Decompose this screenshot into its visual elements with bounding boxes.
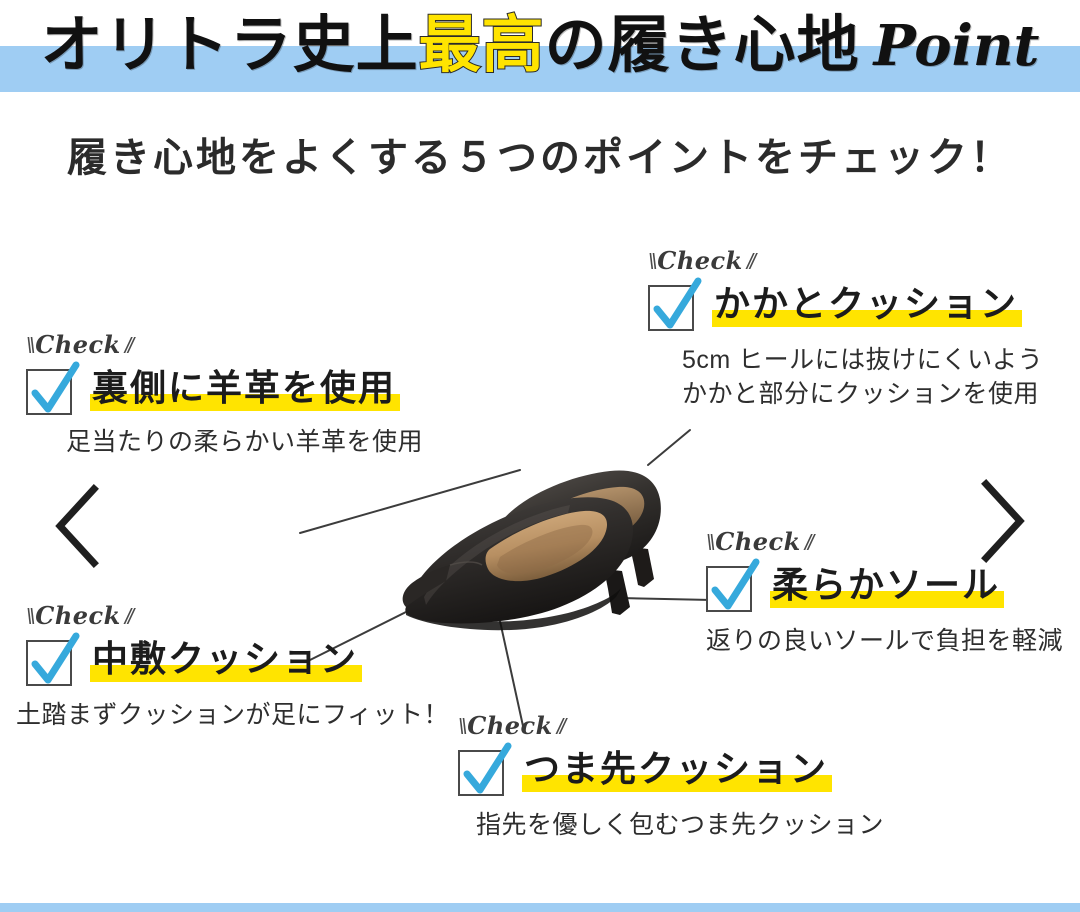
point-head-row: 裏側に羊革を使用 [26,363,423,413]
title-part-point: Point [860,12,1040,80]
point-heel-cushion: \\Check// かかとクッション 5cm ヒールには抜けにくいよう かかと部… [648,248,1043,411]
check-label: Check [35,601,121,630]
checkbox-checked[interactable] [648,279,698,329]
slash-right: // [125,333,131,358]
check-tag: \\Check// [26,332,423,359]
checkbox-checked[interactable] [458,744,508,794]
slash-right: // [557,714,563,739]
slash-right: // [805,530,811,555]
title-part-1: オリトラ史上 [41,12,419,80]
point-description: 返りの良いソールで負担を軽減 [706,624,1063,658]
check-label: Check [35,330,121,359]
slash-left: \\ [648,249,654,274]
slash-right: // [125,604,131,629]
check-label: Check [657,246,743,275]
infographic-slide: オリトラ史上 最高 の履き心地 Point 履き心地をよくする５つのポイントをチ… [0,0,1080,912]
point-description: 指先を優しく包むつま先クッション [476,808,884,842]
check-icon [657,281,698,325]
point-description: 足当たりの柔らかい羊革を使用 [66,425,423,459]
point-head-row: つま先クッション [458,744,884,794]
checkbox-checked[interactable] [26,363,76,413]
point-head-row: 柔らかソール [706,560,1063,610]
slash-left: \\ [458,714,464,739]
point-description-line2: かかと部分にクッションを使用 [682,377,1043,411]
page-title: オリトラ史上 最高 の履き心地 Point [0,0,1080,92]
slash-left: \\ [26,604,32,629]
slash-left: \\ [26,333,32,358]
chevron-right-icon [986,484,1020,558]
point-toe-cushion: \\Check// つま先クッション 指先を優しく包むつま先クッション [458,713,884,842]
prev-arrow-button[interactable] [52,483,104,569]
subtitle: 履き心地をよくする５つのポイントをチェック！ [0,133,1080,183]
slash-right: // [747,249,753,274]
title-part-highlight: 最高 [419,12,545,80]
check-icon [467,746,508,790]
check-icon [715,562,756,606]
point-title: 中敷クッション [90,638,362,680]
point-title: つま先クッション [522,748,832,790]
checkbox-checked[interactable] [26,634,76,684]
title-part-3: の履き心地 [545,12,860,80]
checkbox-checked[interactable] [706,560,756,610]
point-title: 裏側に羊革を使用 [90,367,400,409]
check-icon [35,636,76,680]
check-tag: \\Check// [26,603,449,630]
point-sheepskin: \\Check// 裏側に羊革を使用 足当たりの柔らかい羊革を使用 [26,332,423,459]
point-title: 柔らかソール [770,564,1004,606]
point-head-row: 中敷クッション [26,634,449,684]
check-label: Check [715,527,801,556]
slash-left: \\ [706,530,712,555]
point-head-row: かかとクッション [648,279,1043,329]
footer-band [0,903,1080,912]
point-title: かかとクッション [712,283,1022,325]
next-arrow-button[interactable] [976,478,1028,564]
check-tag: \\Check// [458,713,884,740]
point-description-line1: 5cm ヒールには抜けにくいよう [682,343,1043,377]
check-tag: \\Check// [648,248,1043,275]
point-insole-cushion: \\Check// 中敷クッション 土踏まずクッションが足にフィット！ [26,603,449,732]
check-label: Check [467,711,553,740]
chevron-left-icon [60,489,94,563]
point-description: 土踏まずクッションが足にフィット！ [16,698,449,732]
check-icon [35,365,76,409]
